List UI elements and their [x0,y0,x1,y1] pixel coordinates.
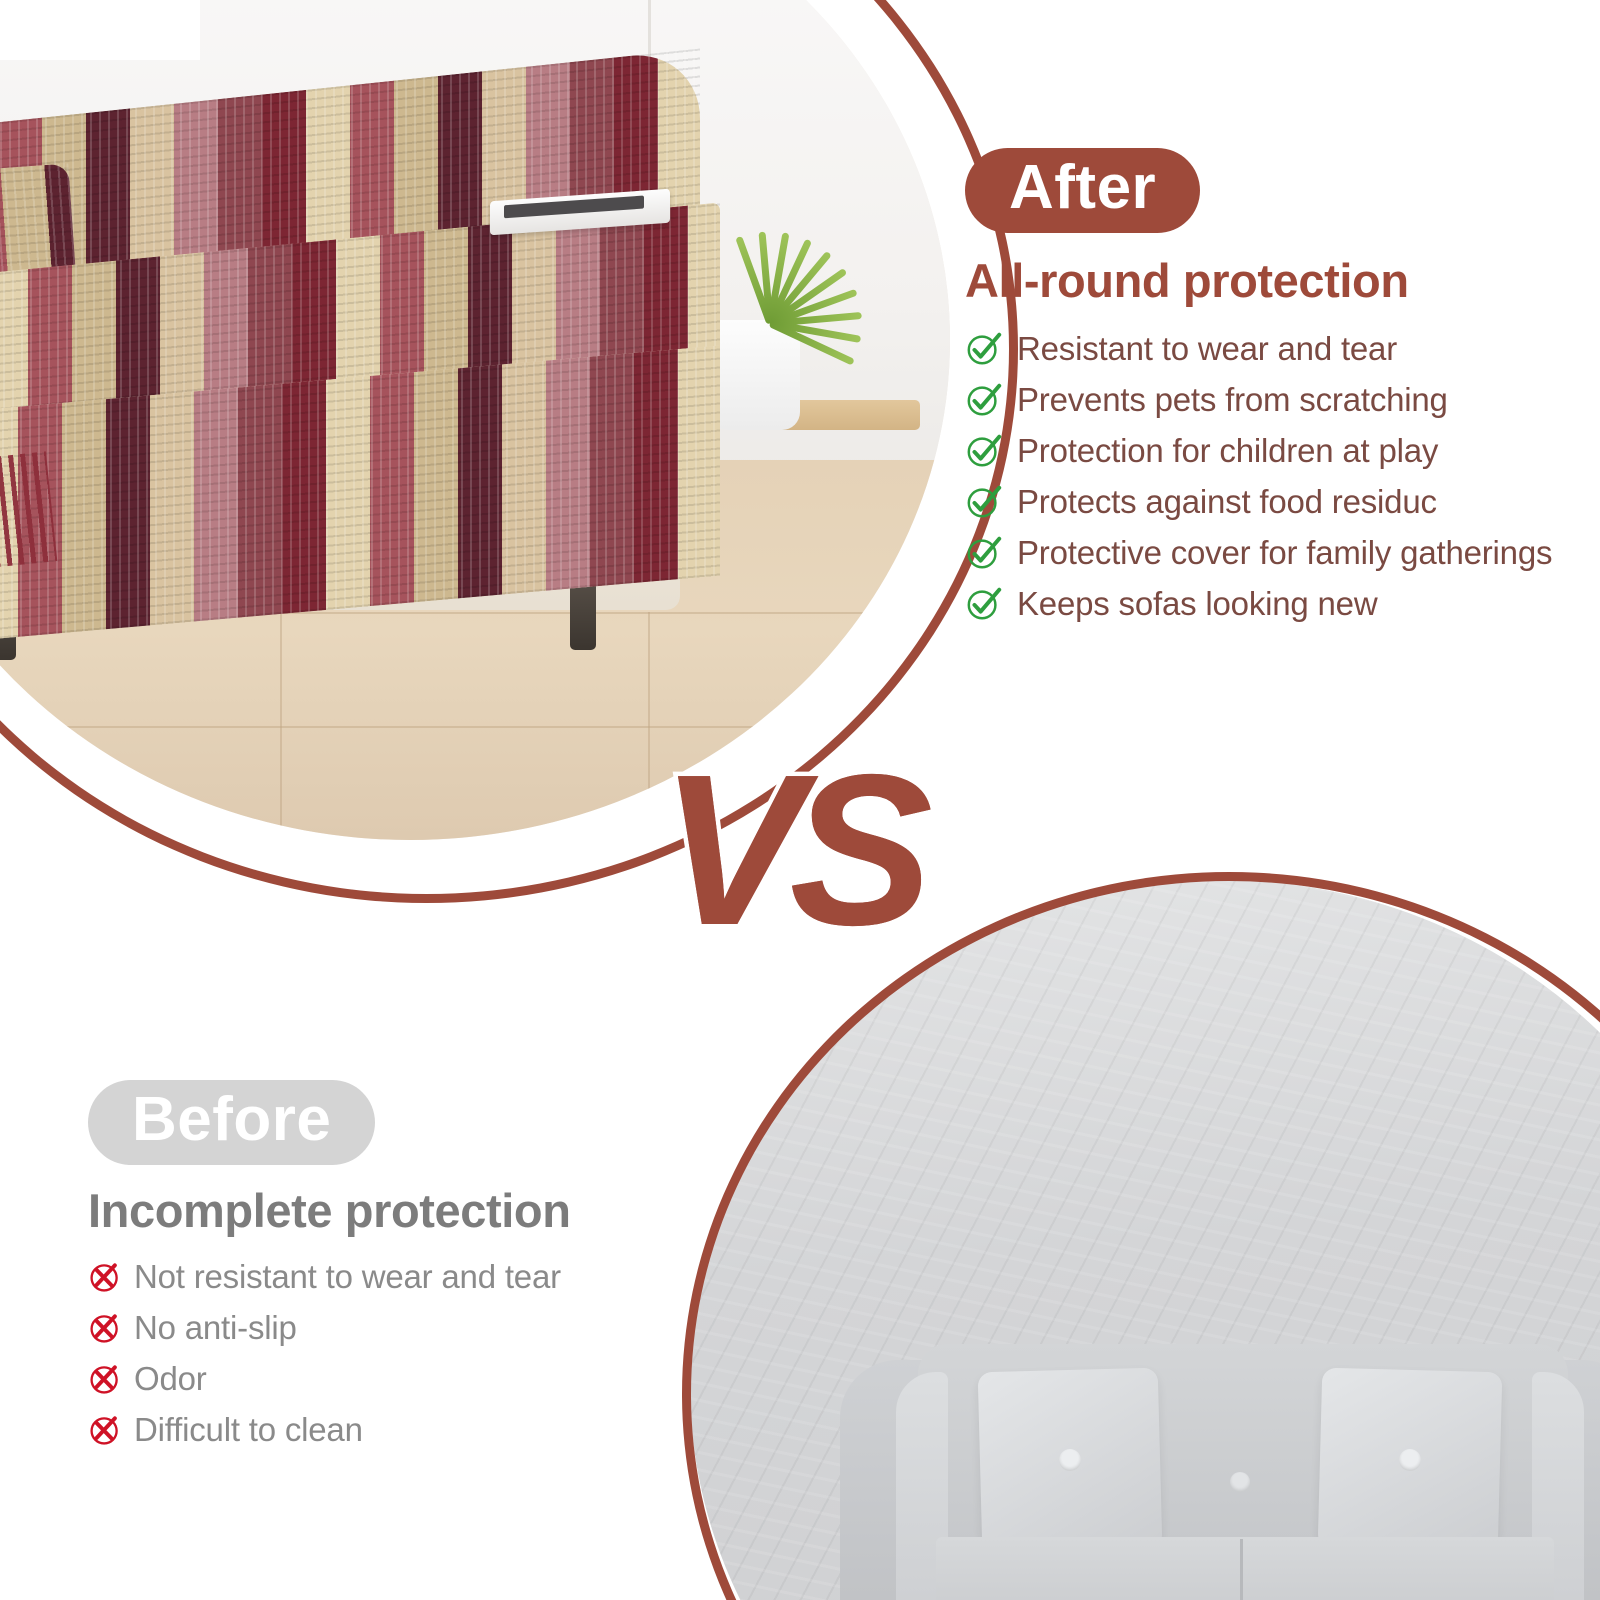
cross-circle-icon [88,1260,122,1294]
after-benefit-list: Resistant to wear and tear Prevents pets… [965,330,1585,623]
list-item-label: Odor [134,1360,207,1398]
check-circle-icon [965,432,1003,470]
list-item: Not resistant to wear and tear [88,1258,728,1296]
list-item-label: Not resistant to wear and tear [134,1258,561,1296]
list-item: Protection for children at play [965,432,1585,470]
after-badge: After [965,148,1200,233]
after-heading: All-round protection [965,253,1585,308]
list-item: Prevents pets from scratching [965,381,1585,419]
list-item-label: Protects against food residuc [1017,483,1437,521]
before-photo [690,880,1600,1600]
cushion-right [1318,1368,1503,1553]
cushion-left [978,1368,1163,1553]
before-panel: Before Incomplete protection Not resista… [88,1080,728,1462]
list-item: No anti-slip [88,1309,728,1347]
list-item-label: Keeps sofas looking new [1017,585,1377,623]
list-item: Protective cover for family gatherings [965,534,1585,572]
vs-badge: VS [660,742,919,957]
check-circle-icon [965,534,1003,572]
list-item-label: Protective cover for family gatherings [1017,534,1552,572]
before-badge: Before [88,1080,375,1165]
list-item: Difficult to clean [88,1411,728,1449]
list-item: Protects against food residuc [965,483,1585,521]
after-photo [0,0,950,840]
list-item-label: Difficult to clean [134,1411,363,1449]
check-circle-icon [965,381,1003,419]
ring-mask-topleft [0,0,200,60]
list-item-label: Prevents pets from scratching [1017,381,1448,419]
cross-circle-icon [88,1311,122,1345]
infographic-canvas: After All-round protection Resistant to … [0,0,1600,1600]
cushion-button [1399,1449,1422,1472]
before-photo-scene [690,880,1600,1600]
gray-sofa [840,1332,1600,1600]
before-drawback-list: Not resistant to wear and tear No anti-s… [88,1258,728,1449]
check-circle-icon [965,483,1003,521]
plant-leaves-icon [700,170,860,340]
after-panel: After All-round protection Resistant to … [965,148,1585,636]
cross-circle-icon [88,1362,122,1396]
sofa-seat [936,1537,1554,1600]
list-item: Odor [88,1360,728,1398]
check-circle-icon [965,330,1003,368]
after-photo-scene [0,0,950,840]
list-item-label: Resistant to wear and tear [1017,330,1397,368]
list-item-label: No anti-slip [134,1309,297,1347]
cushion-button [1059,1449,1082,1472]
list-item: Resistant to wear and tear [965,330,1585,368]
cross-circle-icon [88,1413,122,1447]
list-item-label: Protection for children at play [1017,432,1438,470]
seat-seam [1240,1539,1243,1600]
before-heading: Incomplete protection [88,1183,728,1238]
list-item: Keeps sofas looking new [965,585,1585,623]
check-circle-icon [965,585,1003,623]
backrest-button [1230,1472,1250,1492]
